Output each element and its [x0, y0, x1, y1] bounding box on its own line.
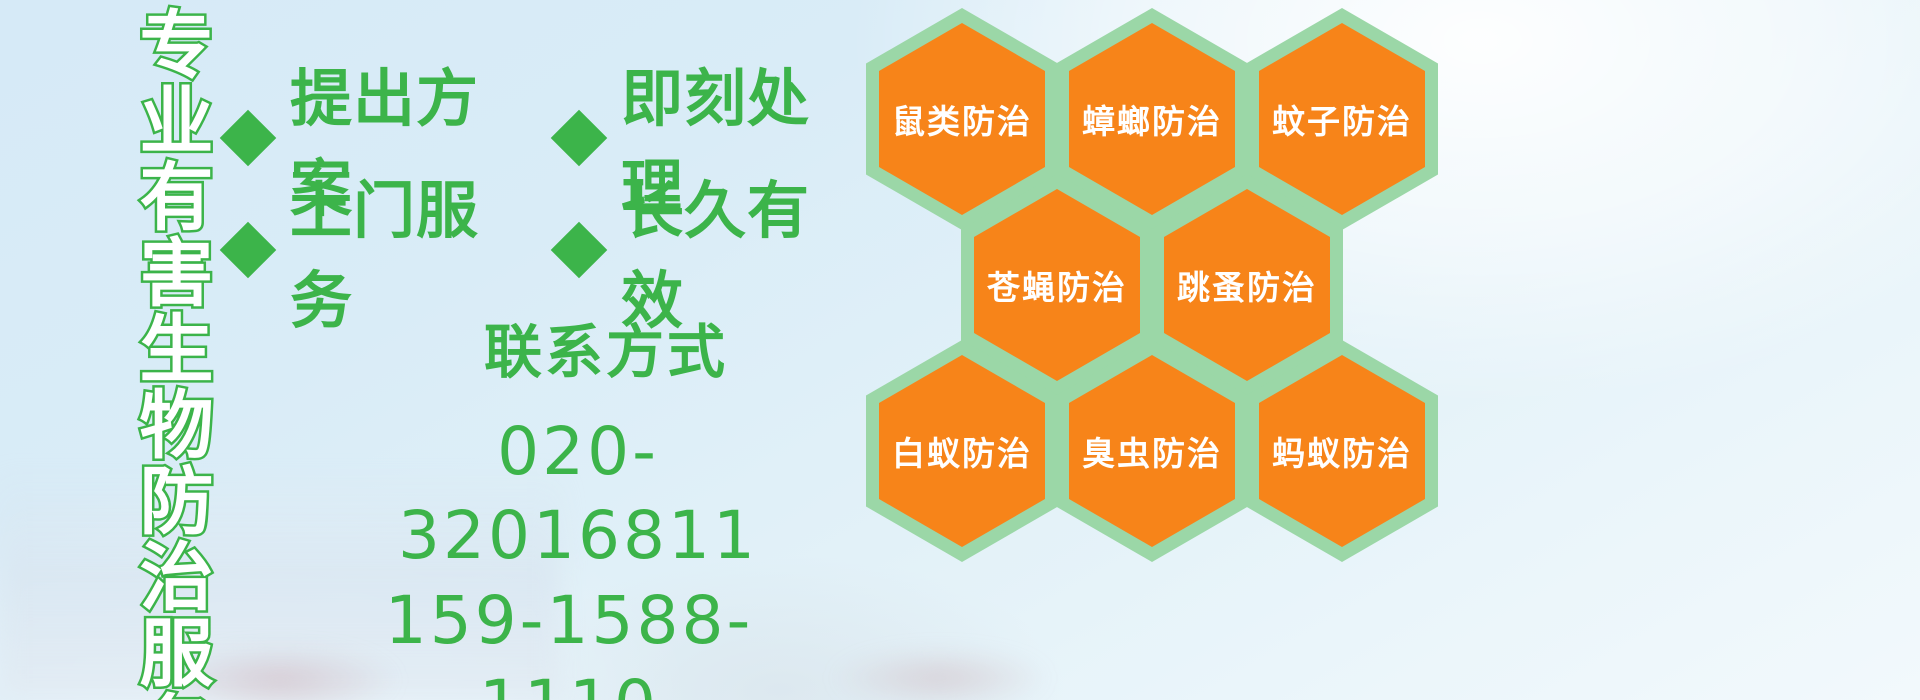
pest-control-banner: 专业有害生物防治服务 提出方案 即刻处理 上门服务 长久有效 联: [0, 0, 1920, 700]
service-honeycomb-grid: 鼠类防治 蟑螂防治 蚊子防治 苍蝇防治 跳蚤防治: [860, 0, 1480, 700]
hex-cell-termite-control[interactable]: 白蚁防治: [866, 340, 1058, 562]
feature-row-2: 上门服务 长久有效: [228, 194, 868, 306]
feature-item-long-lasting: 长久有效: [559, 160, 868, 340]
hex-cell-bedbug-control[interactable]: 臭虫防治: [1056, 340, 1248, 562]
hex-label: 蚊子防治: [1272, 95, 1412, 143]
feature-label: 长久有效: [621, 160, 868, 340]
diamond-bullet-icon: [220, 222, 277, 279]
vertical-headline: 专业有害生物防治服务: [112, 6, 208, 696]
contact-block: 联系方式 020-32016811 159-1588-1110: [300, 318, 820, 700]
hex-label: 臭虫防治: [1082, 427, 1222, 475]
hex-label: 白蚁防治: [892, 427, 1032, 475]
feature-item-onsite-service: 上门服务: [228, 160, 537, 340]
hex-label: 跳蚤防治: [1177, 261, 1317, 309]
feature-list: 提出方案 即刻处理 上门服务 长久有效: [228, 82, 868, 306]
feature-label: 上门服务: [290, 160, 537, 340]
phone-number-mobile[interactable]: 159-1588-1110: [318, 579, 820, 700]
diamond-bullet-icon: [551, 222, 608, 279]
contact-title: 联系方式: [392, 318, 820, 388]
hex-label: 蚂蚁防治: [1272, 427, 1412, 475]
hex-label: 苍蝇防治: [987, 261, 1127, 309]
hex-cell-ant-control[interactable]: 蚂蚁防治: [1246, 340, 1438, 562]
phone-number-landline[interactable]: 020-32016811: [336, 410, 820, 579]
diamond-bullet-icon: [220, 110, 277, 167]
hex-label: 蟑螂防治: [1082, 95, 1222, 143]
hex-label: 鼠类防治: [892, 95, 1032, 143]
diamond-bullet-icon: [551, 110, 608, 167]
